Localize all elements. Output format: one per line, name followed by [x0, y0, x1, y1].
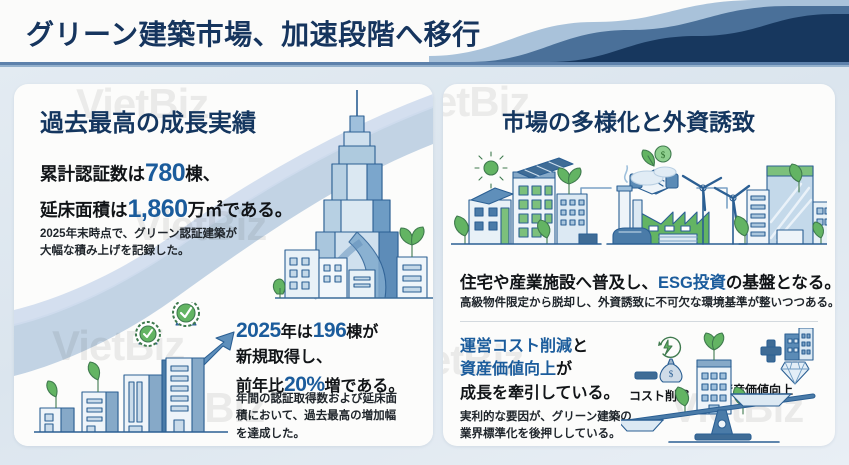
- right-block1-lead-pre: 住宅や産業施設へ普及し、: [460, 274, 658, 292]
- right-block1-lead-accent: ESG投資: [658, 274, 726, 292]
- right-block1-lead: 住宅や産業施設へ普及し、ESG投資の基盤となる。: [460, 269, 832, 293]
- svg-text:$: $: [661, 150, 666, 160]
- header-wave-decoration: [429, 0, 849, 62]
- page-title: グリーン建築市場、加速段階へ移行: [26, 13, 481, 53]
- right-block2-post2: が: [556, 361, 572, 378]
- green-city-handshake-illustration: $: [451, 142, 827, 266]
- svg-text:$: $: [669, 369, 674, 379]
- left-block2-lead: 2025年は196棟が 新規取得し、 前年比20%増である。: [236, 316, 433, 400]
- left-block1-subtext: 2025年末時点で、グリーン認証建築が 大幅な積み上げを記録した。: [40, 226, 290, 261]
- left-block1-lead: 累計認証数は780棟、 延床面積は1,860万㎡である。: [40, 156, 310, 227]
- balance-scale-illustration: $ コスト削減: [621, 328, 831, 444]
- header-bar: グリーン建築市場、加速段階へ移行: [0, 0, 849, 62]
- left-block1-lead-post1: 棟、: [185, 164, 220, 184]
- right-block2-accent-cost: 運営コスト削減: [460, 338, 572, 355]
- left-block1-metric-area: 1,860: [128, 195, 188, 223]
- left-block1-metric-buildings: 780: [145, 159, 185, 187]
- infographic-canvas: グリーン建築市場、加速段階へ移行 VietBiz VietBiz VietBiz…: [0, 0, 849, 465]
- left-block2-subtext: 年間の認証取得数および延床面 積において、過去最高の増加幅 を達成した。: [236, 391, 433, 443]
- right-block1-lead-post: の基盤となる。: [726, 274, 835, 292]
- left-block2-year: 2025: [236, 319, 281, 342]
- left-block1-lead-pre1: 累計認証数は: [40, 164, 145, 184]
- right-block1-subtext: 高級物件限定から脱却し、外資誘致に不可欠な環境基準が整いつつある。: [460, 294, 832, 310]
- growth-bar-chart-illustration: [28, 302, 238, 442]
- right-block2-line3: 成長を牽引している。: [460, 385, 620, 402]
- left-block1-sub-line1: 2025年末時点で、グリーン認証建築が: [40, 228, 237, 240]
- left-block1-sub-line2: 大幅な積み上げを記録した。: [40, 245, 190, 257]
- left-block2-metric-new: 196: [313, 319, 347, 342]
- right-content-panel: VietBiz VietBiz VietBiz 市場の多様化と外資誘致 $: [443, 84, 835, 446]
- left-block1-lead-pre2: 延床面積は: [40, 200, 128, 220]
- left-block2-lead-post: 棟が: [346, 324, 378, 341]
- right-block2-accent-value: 資産価値向上: [460, 361, 556, 378]
- left-block1-lead-post2: 万㎡である。: [188, 200, 293, 220]
- left-block2-sub-line2: 積において、過去最高の増加幅: [236, 410, 396, 422]
- right-panel-heading: 市場の多様化と外資誘致: [502, 103, 755, 137]
- right-panel-divider: [460, 321, 818, 322]
- right-block2-sub-line2: 業界標準化を後押ししている。: [460, 428, 621, 440]
- right-block2-post1: と: [572, 338, 588, 355]
- left-block2-lead-mid: 年は: [281, 324, 313, 341]
- left-panel-heading: 過去最高の成長実績: [40, 103, 256, 138]
- left-content-panel: VietBiz VietBiz VietBiz VietBiz: [14, 84, 433, 446]
- right-block2-sub-line1: 実利的な要因が、グリーン建築の: [460, 411, 632, 423]
- left-block2-lead-line2: 新規取得し、: [236, 349, 332, 366]
- left-block2-sub-line3: を達成した。: [236, 428, 305, 440]
- left-block2-sub-line1: 年間の認証取得数および延床面: [236, 393, 397, 405]
